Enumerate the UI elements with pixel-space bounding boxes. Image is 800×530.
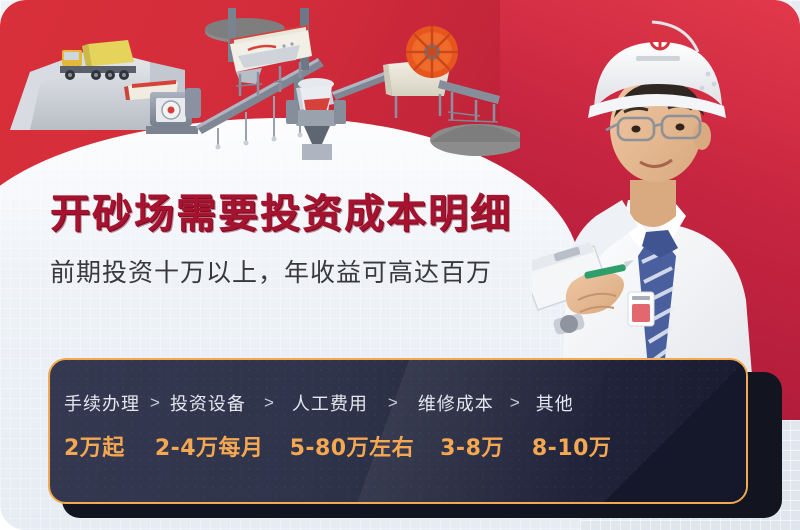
chevron-right-icon: > xyxy=(510,393,520,413)
belt-conveyor-icon xyxy=(438,80,500,122)
cost-label-1: 手续办理 xyxy=(64,390,140,416)
cost-value-1: 2万起 xyxy=(64,430,125,462)
cost-value-3: 5-80万左右 xyxy=(290,430,415,462)
dump-truck-icon xyxy=(60,40,136,80)
chevron-right-icon: > xyxy=(150,393,160,413)
chevron-right-icon: > xyxy=(264,393,274,413)
cost-label-row: 手续办理>投资设备>人工费用>维修成本>其他 xyxy=(64,390,732,416)
cost-value-2: 2-4万每月 xyxy=(155,430,264,462)
id-badge xyxy=(628,292,654,326)
page-title: 开砂场需要投资成本明细 xyxy=(50,192,512,237)
hard-hat-icon xyxy=(588,22,726,118)
promo-banner: 开砂场需要投资成本明细 前期投资十万以上，年收益可高达百万 手续办理>投资设备>… xyxy=(0,0,800,530)
page-subtitle: 前期投资十万以上，年收益可高达百万 xyxy=(50,253,512,289)
headline-block: 开砂场需要投资成本明细 前期投资十万以上，年收益可高达百万 xyxy=(50,192,512,289)
cost-value-5: 8-10万 xyxy=(532,430,612,462)
cost-label-2: 投资设备 xyxy=(170,390,246,416)
engineer-figure xyxy=(532,0,782,400)
chevron-right-icon: > xyxy=(388,393,398,413)
cost-label-4: 维修成本 xyxy=(418,390,494,416)
cost-breakdown-card: 手续办理>投资设备>人工费用>维修成本>其他 2万起2-4万每月5-80万左右3… xyxy=(48,358,748,504)
cost-label-5: 其他 xyxy=(536,390,574,416)
sand-production-line-illustration xyxy=(0,0,520,170)
cost-label-3: 人工费用 xyxy=(292,390,368,416)
sand-washer-icon xyxy=(383,26,458,118)
cost-value-row: 2万起2-4万每月5-80万左右3-8万8-10万 xyxy=(64,430,732,462)
cost-value-4: 3-8万 xyxy=(440,430,504,462)
